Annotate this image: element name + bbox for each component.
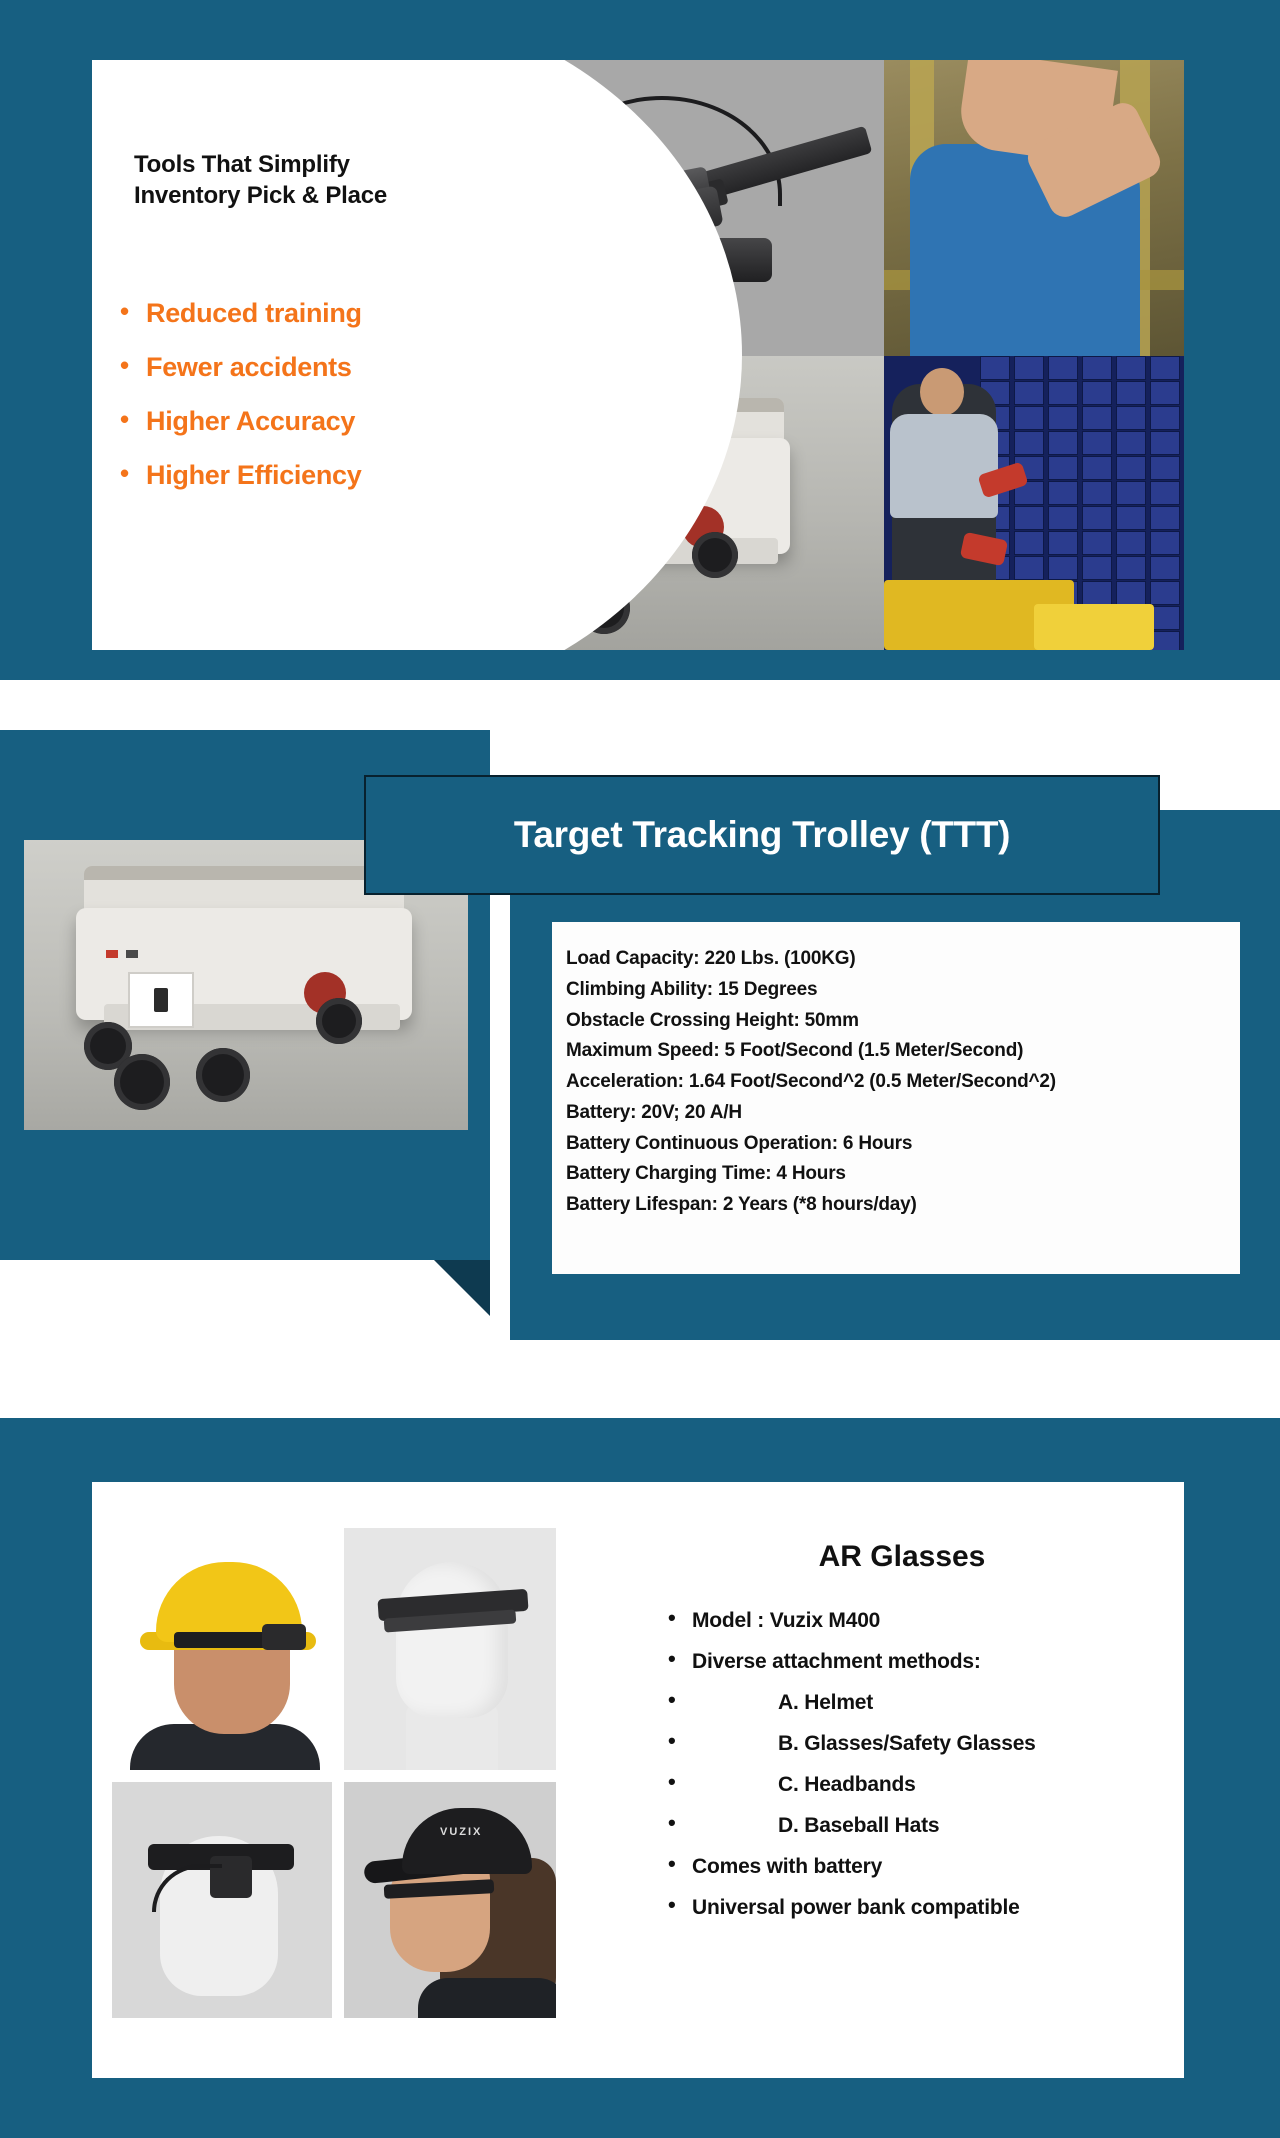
storage-bin (1150, 356, 1180, 380)
storage-bin (1048, 506, 1078, 530)
spec-line: Acceleration: 1.64 Foot/Second^2 (0.5 Me… (566, 1067, 1226, 1098)
ar-glasses-on-mannequin-photo (344, 1528, 556, 1770)
storage-bin (1082, 556, 1112, 580)
ar-glasses-section: VUZIX AR Glasses Model : Vuzix M400 Dive… (0, 1418, 1280, 2138)
trolley-title-banner: Target Tracking Trolley (TTT) (364, 775, 1160, 895)
trolley-title: Target Tracking Trolley (TTT) (514, 814, 1010, 856)
storage-bin (1150, 506, 1180, 530)
ar-glasses-on-hard-hat-photo (112, 1528, 332, 1770)
ar-glasses-title: AR Glasses (692, 1540, 1112, 1574)
trolley-led-dark (126, 950, 138, 958)
storage-bin (1082, 406, 1112, 430)
storage-bin (1116, 431, 1146, 455)
ar-bullet-item: Comes with battery (662, 1856, 1162, 1877)
trolley-sensor-marker (154, 988, 168, 1012)
picker-head (920, 368, 964, 416)
picker-shirt (890, 414, 998, 518)
vuzix-brand-label: VUZIX (440, 1826, 482, 1838)
storage-bin (1014, 406, 1044, 430)
spec-line: Battery: 20V; 20 A/H (566, 1098, 1226, 1129)
ar-bullet-item: Universal power bank compatible (662, 1897, 1162, 1918)
storage-bin (1150, 381, 1180, 405)
mannequin-head (396, 1562, 508, 1718)
trolley-wheel (316, 998, 362, 1044)
storage-bin (1116, 481, 1146, 505)
storage-bin (1150, 456, 1180, 480)
spec-line: Load Capacity: 220 Lbs. (100KG) (566, 944, 1226, 975)
device-cable-icon (152, 1864, 222, 1912)
trolley-led-red (106, 950, 118, 958)
storage-bin (1082, 481, 1112, 505)
spec-line: Battery Continuous Operation: 6 Hours (566, 1129, 1226, 1160)
storage-bin (1116, 356, 1146, 380)
trolley-wheel (114, 1054, 170, 1110)
storage-bin (1150, 581, 1180, 605)
storage-bin (1048, 431, 1078, 455)
worker-picking-bins-photo (884, 356, 1184, 650)
yellow-crate-secondary (1034, 604, 1154, 650)
ar-glasses-card: VUZIX AR Glasses Model : Vuzix M400 Dive… (92, 1482, 1184, 2078)
storage-bin (1116, 406, 1146, 430)
ar-bullet-sub-item: C. Headbands (662, 1774, 1162, 1795)
storage-bin (1048, 456, 1078, 480)
spec-line: Climbing Ability: 15 Degrees (566, 975, 1226, 1006)
ribbon-fold-notch (434, 1260, 490, 1316)
benefit-item: Fewer accidents (120, 354, 500, 381)
baseball-cap (402, 1808, 532, 1874)
storage-bin (1048, 381, 1078, 405)
trolley-wheel (196, 1048, 250, 1102)
storage-bin (1116, 581, 1146, 605)
storage-bin (1082, 381, 1112, 405)
storage-bin (1116, 556, 1146, 580)
benefits-heading: Tools That Simplify Inventory Pick & Pla… (134, 150, 434, 211)
benefits-text-panel: Tools That Simplify Inventory Pick & Pla… (92, 60, 522, 650)
storage-bin (980, 356, 1010, 380)
benefits-card: VUZIX (92, 60, 1184, 650)
ar-bullet-sub-item: D. Baseball Hats (662, 1815, 1162, 1836)
spec-line: Obstacle Crossing Height: 50mm (566, 1006, 1226, 1037)
storage-bin (1150, 406, 1180, 430)
benefit-item: Higher Efficiency (120, 462, 500, 489)
trolley-wheel (692, 532, 738, 578)
storage-bin (1116, 531, 1146, 555)
storage-bin (1014, 356, 1044, 380)
storage-bin (1082, 356, 1112, 380)
storage-bin (1082, 431, 1112, 455)
ar-bullet-sub-item: A. Helmet (662, 1692, 1162, 1713)
ar-bullet-item: Diverse attachment methods: (662, 1651, 1162, 1672)
storage-bin (1082, 531, 1112, 555)
person-torso (418, 1978, 556, 2018)
benefit-item: Reduced training (120, 300, 500, 327)
benefits-section: VUZIX (0, 0, 1280, 680)
storage-bin (1014, 556, 1044, 580)
storage-bin (1150, 431, 1180, 455)
storage-bin (1116, 381, 1146, 405)
storage-bin (1048, 406, 1078, 430)
warehouse-worker-photo (884, 60, 1184, 356)
trolley-back-wall-top (84, 866, 404, 880)
storage-bin (1150, 556, 1180, 580)
storage-bin (1048, 356, 1078, 380)
ar-glasses-bullet-list: Model : Vuzix M400 Diverse attachment me… (662, 1610, 1162, 1938)
spec-line: Battery Lifespan: 2 Years (*8 hours/day) (566, 1190, 1226, 1221)
storage-bin (1048, 531, 1078, 555)
storage-bin (1116, 506, 1146, 530)
trolley-spec-panel: Load Capacity: 220 Lbs. (100KG) Climbing… (552, 922, 1240, 1274)
benefit-item: Higher Accuracy (120, 408, 500, 435)
storage-bin (1150, 481, 1180, 505)
storage-bin (1116, 456, 1146, 480)
storage-bin (1014, 531, 1044, 555)
ar-bullet-sub-item: B. Glasses/Safety Glasses (662, 1733, 1162, 1754)
benefits-bullet-list: Reduced training Fewer accidents Higher … (120, 300, 500, 516)
storage-bin (1048, 556, 1078, 580)
ar-glasses-on-headband-photo (112, 1782, 332, 2018)
storage-bin (1150, 631, 1180, 650)
storage-bin (1150, 606, 1180, 630)
storage-bin (1014, 381, 1044, 405)
spec-line: Battery Charging Time: 4 Hours (566, 1159, 1226, 1190)
ar-glasses-on-baseball-cap-photo: VUZIX (344, 1782, 556, 2018)
storage-bin (1014, 431, 1044, 455)
storage-bin (1082, 581, 1112, 605)
storage-bin (1014, 506, 1044, 530)
spec-line: Maximum Speed: 5 Foot/Second (1.5 Meter/… (566, 1036, 1226, 1067)
storage-bin (1150, 531, 1180, 555)
ar-glasses-display-module (262, 1624, 306, 1650)
storage-bin (1048, 481, 1078, 505)
ar-bullet-item: Model : Vuzix M400 (662, 1610, 1162, 1631)
storage-bin (1082, 506, 1112, 530)
storage-bin (1082, 456, 1112, 480)
